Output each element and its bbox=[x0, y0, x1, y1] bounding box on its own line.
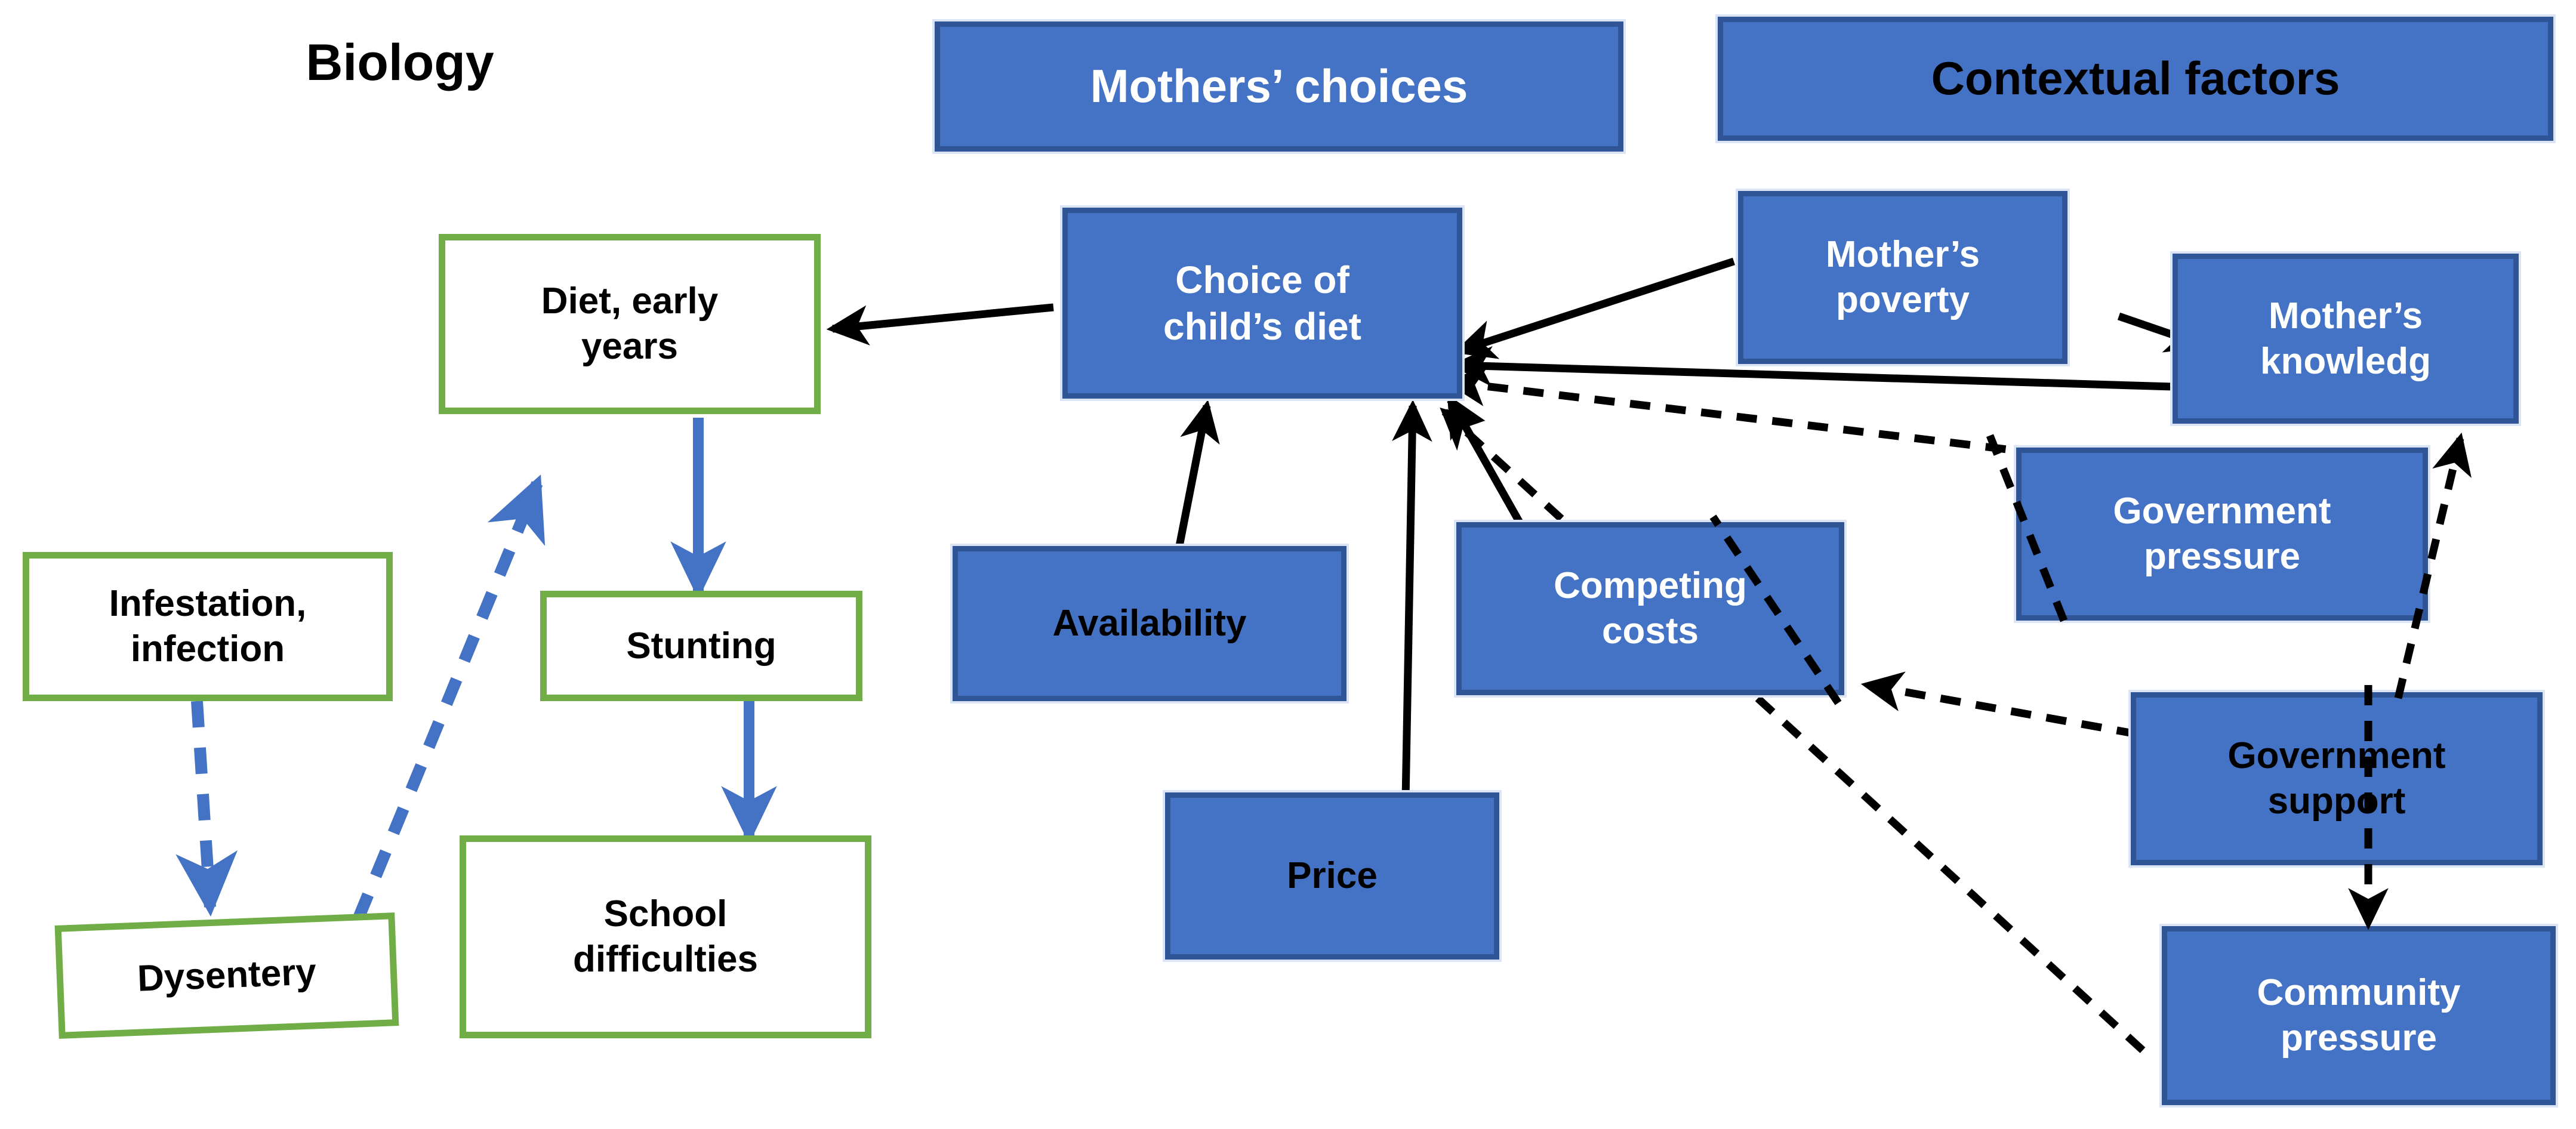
edge-price-to-choice bbox=[1406, 406, 1413, 800]
node-availability[interactable]: Availability bbox=[953, 546, 1346, 701]
node-community-pressure[interactable]: Community pressure bbox=[2162, 926, 2556, 1105]
node-mothers-poverty-label: Mother’s poverty bbox=[1826, 232, 1980, 322]
node-government-pressure-label: Government pressure bbox=[2113, 489, 2331, 579]
node-infestation-infection[interactable]: Infestation, infection bbox=[23, 552, 393, 701]
edge-govsupport-to-competing-costs bbox=[1867, 685, 2137, 734]
node-choice-of-childs-diet-label: Choice of child’s diet bbox=[1163, 257, 1361, 350]
edge-govpressure-to-choice bbox=[1450, 382, 2041, 454]
header-mothers-choices: Mothers’ choices bbox=[935, 21, 1623, 152]
node-government-support[interactable]: Government support bbox=[2131, 692, 2543, 865]
header-mothers-choices-label: Mothers’ choices bbox=[1090, 58, 1468, 115]
node-stunting[interactable]: Stunting bbox=[540, 591, 862, 701]
node-community-pressure-label: Community pressure bbox=[2257, 970, 2461, 1060]
edge-poverty-to-choice bbox=[1459, 261, 1734, 351]
node-government-pressure[interactable]: Government pressure bbox=[2016, 448, 2428, 621]
header-contextual-factors-label: Contextual factors bbox=[1931, 50, 2340, 107]
edge-infestation-to-dysentery bbox=[197, 701, 210, 907]
header-biology-label: Biology bbox=[306, 32, 494, 94]
node-infestation-infection-label: Infestation, infection bbox=[109, 581, 307, 671]
node-diet-early-years-label: Diet, early years bbox=[541, 279, 718, 369]
node-competing-costs-label: Competing costs bbox=[1554, 563, 1747, 653]
node-government-support-label: Government support bbox=[2227, 733, 2445, 823]
node-diet-early-years[interactable]: Diet, early years bbox=[439, 234, 821, 414]
node-school-difficulties-label: School difficulties bbox=[573, 892, 758, 982]
node-dysentery-label: Dysentery bbox=[137, 949, 318, 1001]
node-competing-costs[interactable]: Competing costs bbox=[1456, 522, 1844, 695]
node-dysentery[interactable]: Dysentery bbox=[55, 912, 399, 1039]
node-availability-label: Availability bbox=[1052, 601, 1246, 646]
node-price[interactable]: Price bbox=[1165, 792, 1499, 960]
node-price-label: Price bbox=[1287, 853, 1378, 899]
node-stunting-label: Stunting bbox=[626, 624, 776, 669]
header-contextual-factors: Contextual factors bbox=[1718, 17, 2553, 141]
header-biology: Biology bbox=[263, 30, 537, 95]
diagram-canvas: Biology Mothers’ choices Contextual fact… bbox=[0, 0, 2576, 1129]
edge-knowledge-to-choice bbox=[1456, 365, 2173, 387]
node-school-difficulties[interactable]: School difficulties bbox=[460, 835, 871, 1038]
node-mothers-knowledge-label: Mother’s knowledg bbox=[2260, 294, 2431, 384]
node-mothers-knowledge[interactable]: Mother’s knowledg bbox=[2173, 254, 2519, 424]
node-mothers-poverty[interactable]: Mother’s poverty bbox=[1738, 191, 2067, 364]
edge-availability-to-choice bbox=[1179, 406, 1207, 549]
node-choice-of-childs-diet[interactable]: Choice of child’s diet bbox=[1062, 208, 1462, 399]
edge-competing-costs-to-choice bbox=[1450, 400, 1528, 537]
edge-choice-to-diet bbox=[833, 307, 1053, 329]
